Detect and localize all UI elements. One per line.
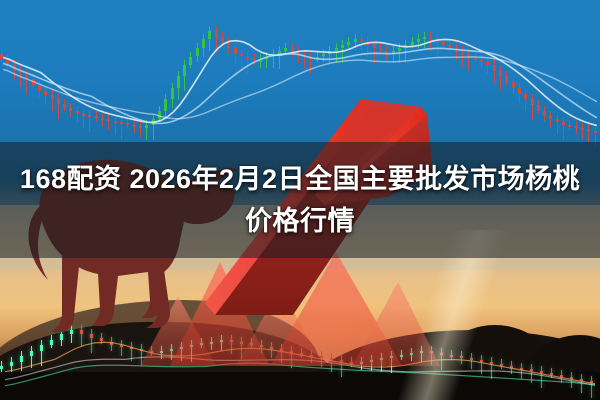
headline-line-1: 168配资 2026年2月2日全国主要批发市场杨桃 [20,161,580,197]
headline-line-2: 价格行情 [245,203,355,239]
headline-text: 168配资 2026年2月2日全国主要批发市场杨桃 价格行情 [0,142,600,258]
banner-image: 168配资 2026年2月2日全国主要批发市场杨桃 价格行情 [0,0,600,400]
